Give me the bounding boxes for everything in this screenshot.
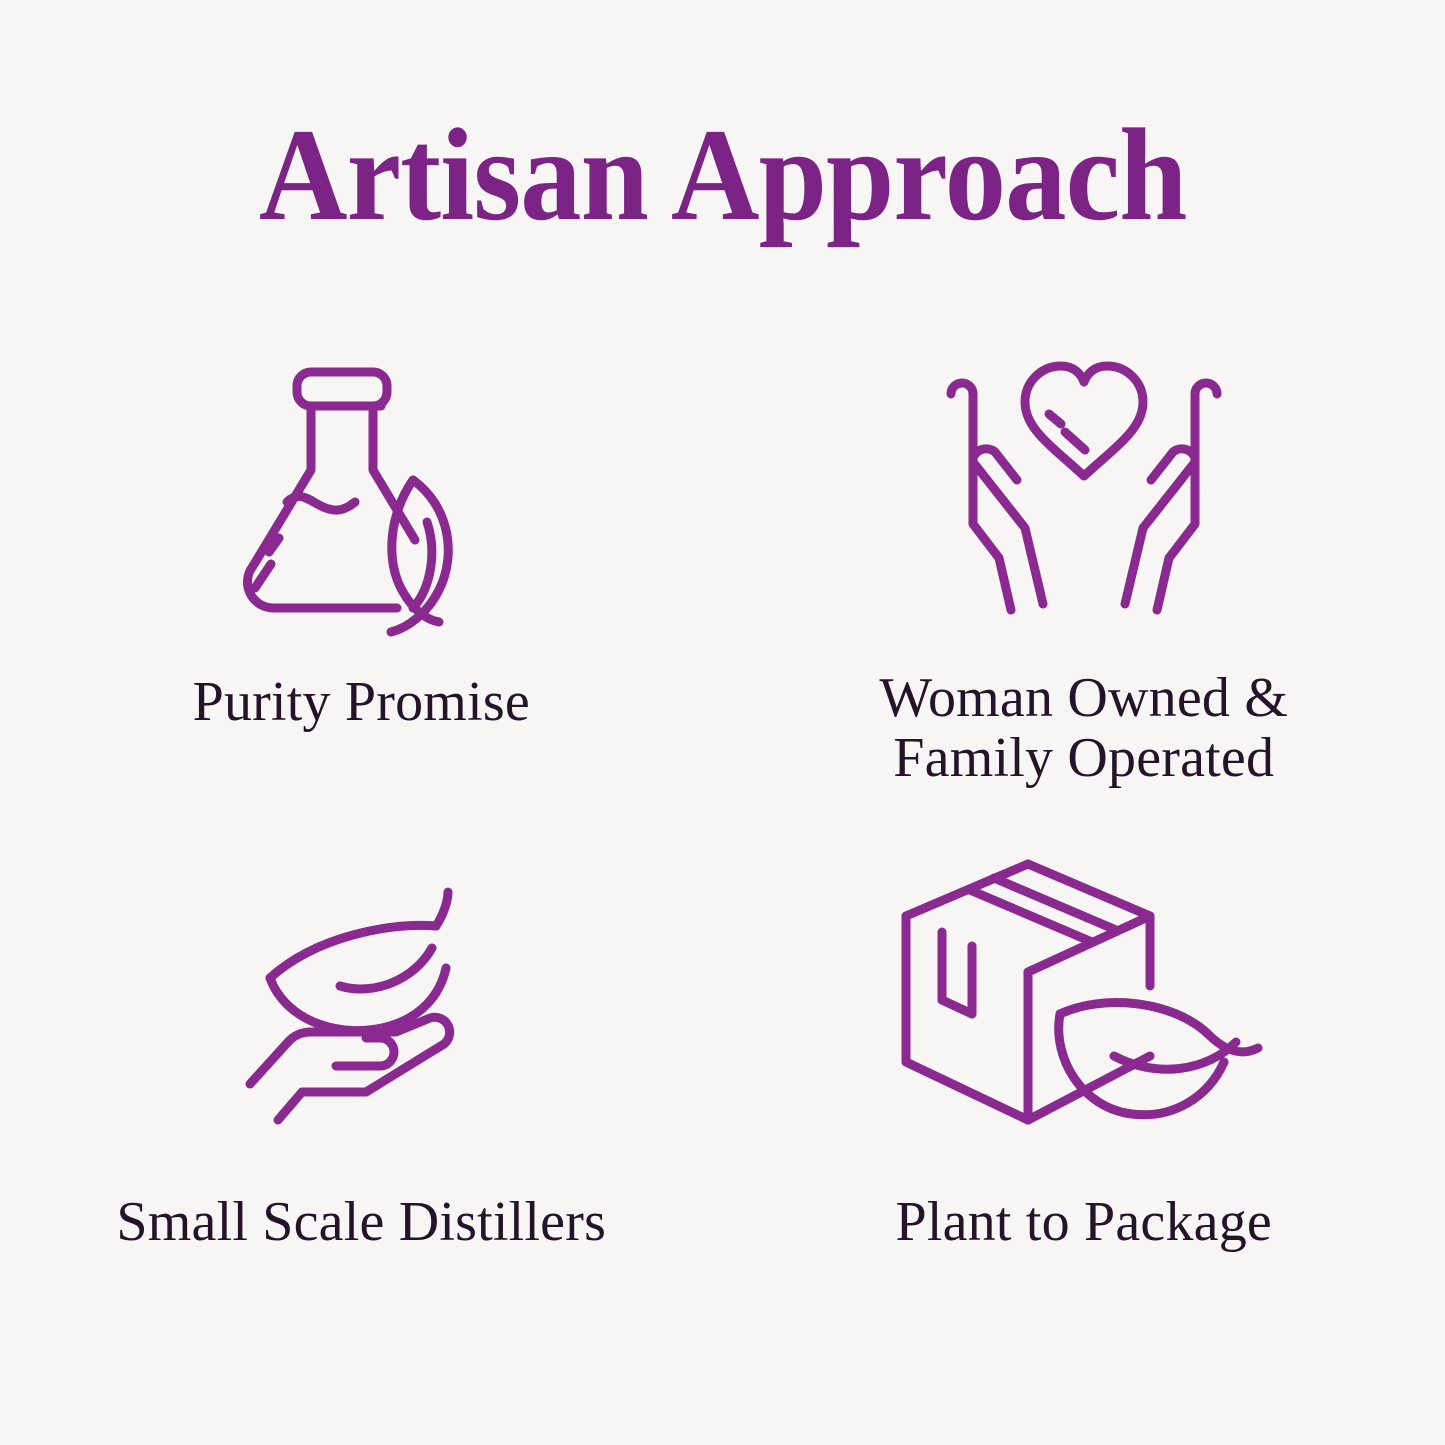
- feature-item-small-scale-distillers: Small Scale Distillers: [0, 840, 723, 1390]
- feature-icon-container: [236, 840, 486, 1130]
- flask-leaf-icon: [231, 350, 491, 640]
- feature-grid: Purity Promise: [0, 330, 1445, 1390]
- feature-label-plant-to-package: Plant to Package: [896, 1192, 1272, 1252]
- page-title: Artisan Approach: [259, 108, 1187, 243]
- page-title-container: Artisan Approach: [0, 108, 1445, 243]
- hand-holding-leaf-icon: [236, 880, 486, 1130]
- feature-item-purity-promise: Purity Promise: [0, 330, 723, 840]
- feature-label-line-1: Purity Promise: [193, 671, 530, 733]
- feature-label-line-2: Family Operated: [893, 727, 1274, 789]
- feature-label-woman-owned: Woman Owned &Family Operated: [879, 668, 1288, 789]
- feature-icon-container: [929, 330, 1239, 610]
- feature-label-small-scale-distillers: Small Scale Distillers: [116, 1192, 606, 1252]
- feature-label-line-1: Woman Owned &: [879, 667, 1288, 729]
- hands-holding-heart-icon: [929, 348, 1239, 610]
- feature-label-line-1: Plant to Package: [896, 1191, 1272, 1253]
- feature-icon-container: [884, 840, 1284, 1130]
- feature-label-purity-promise: Purity Promise: [193, 672, 530, 732]
- feature-label-line-1: Small Scale Distillers: [116, 1191, 606, 1253]
- feature-item-plant-to-package: Plant to Package: [723, 840, 1445, 1390]
- feature-item-woman-owned: Woman Owned &Family Operated: [723, 330, 1445, 840]
- feature-icon-container: [231, 330, 491, 640]
- artisan-approach-infographic: Artisan Approach: [0, 0, 1445, 1445]
- box-leaf-icon: [884, 850, 1284, 1130]
